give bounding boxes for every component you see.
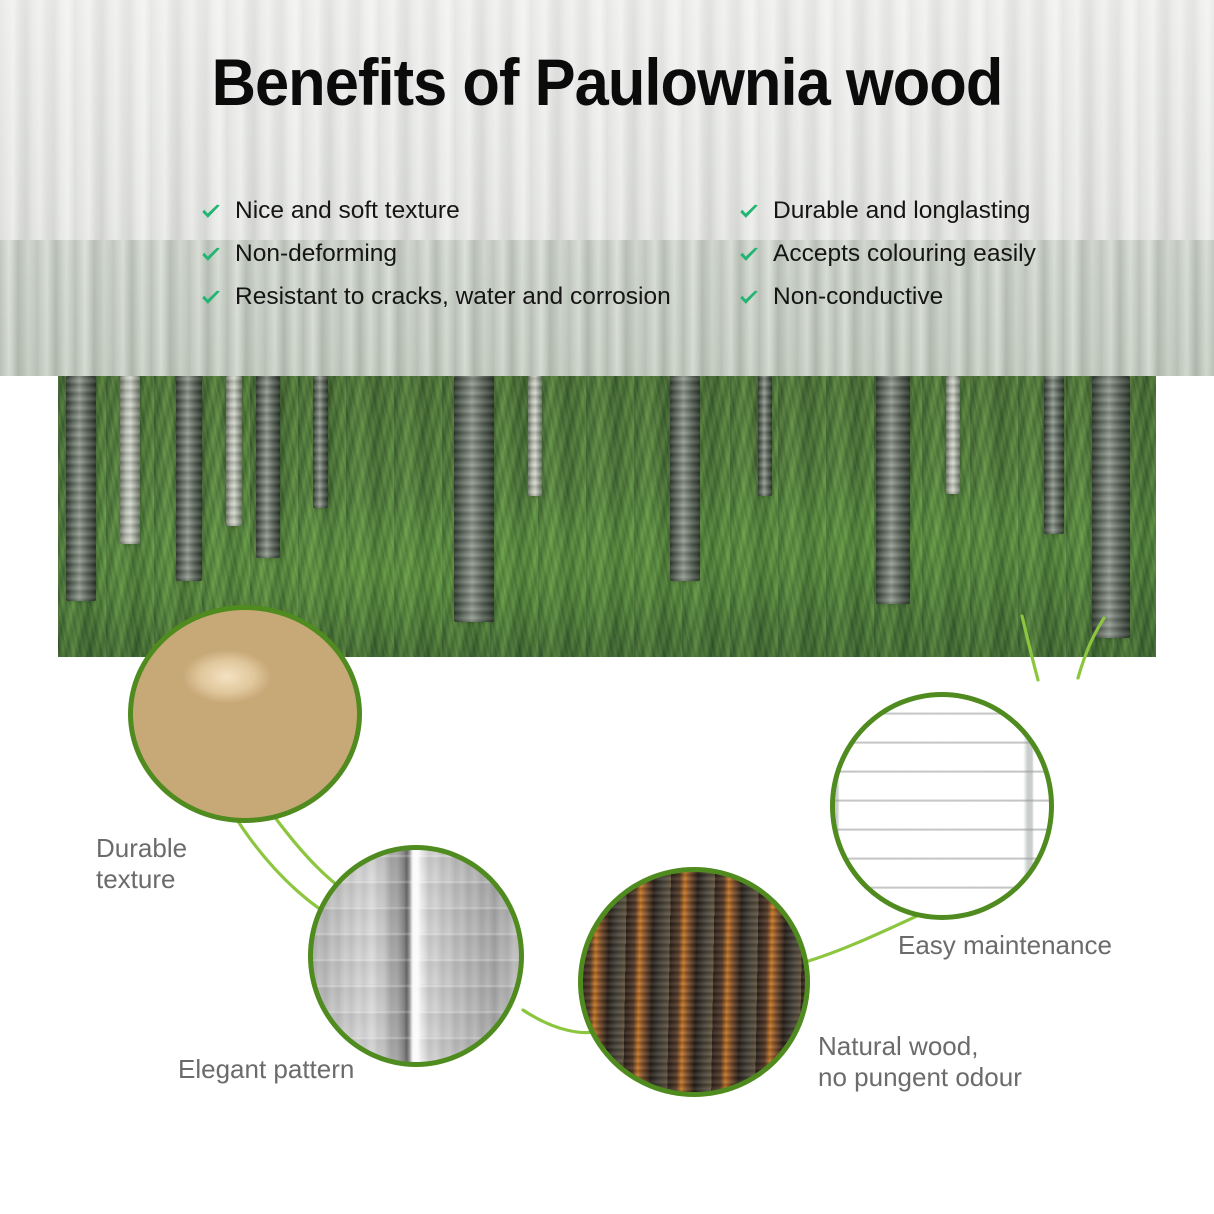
benefit-item: Nice and soft texture bbox=[200, 196, 670, 228]
caption-durable-texture: Durable texture bbox=[96, 833, 187, 895]
benefit-item: Non-deforming bbox=[200, 239, 670, 271]
bubble-natural-wood[interactable] bbox=[578, 867, 810, 1097]
check-icon bbox=[200, 287, 222, 309]
benefit-item: Durable and longlasting bbox=[738, 196, 1058, 228]
bubble-durable-texture[interactable] bbox=[128, 605, 362, 823]
tree-trunk bbox=[758, 376, 772, 496]
benefit-label: Durable and longlasting bbox=[773, 196, 1030, 226]
tree-trunk bbox=[1044, 376, 1064, 534]
tree-trunk bbox=[66, 376, 96, 601]
tree-trunk bbox=[313, 376, 328, 508]
check-icon bbox=[738, 201, 760, 223]
caption-natural-wood: Natural wood, no pungent odour bbox=[818, 1031, 1022, 1093]
tree-trunk bbox=[226, 376, 242, 526]
tree-trunk bbox=[670, 376, 700, 581]
caption-easy-maintenance: Easy maintenance bbox=[898, 930, 1112, 961]
benefit-item: Non-conductive bbox=[738, 282, 1058, 314]
benefit-label: Nice and soft texture bbox=[235, 196, 460, 226]
tree-trunk bbox=[528, 376, 542, 496]
caption-elegant-pattern: Elegant pattern bbox=[178, 1054, 354, 1085]
tree-trunk bbox=[120, 376, 140, 544]
infographic-page: Benefits of Paulownia wood Nice and soft… bbox=[0, 0, 1214, 1214]
benefit-item: Resistant to cracks, water and corrosion bbox=[200, 282, 670, 314]
benefits-right-column: Durable and longlasting Accepts colourin… bbox=[738, 196, 1058, 314]
benefits-left-column: Nice and soft texture Non-deforming Resi… bbox=[200, 196, 670, 314]
tree-trunk bbox=[1092, 376, 1130, 638]
benefit-label: Resistant to cracks, water and corrosion bbox=[235, 282, 671, 312]
bubble-easy-maintenance[interactable] bbox=[830, 692, 1054, 920]
tree-trunk bbox=[256, 376, 280, 558]
tree-trunk bbox=[946, 376, 960, 494]
tree-trunk bbox=[454, 376, 494, 622]
benefit-item: Accepts colouring easily bbox=[738, 239, 1058, 271]
benefit-label: Non-conductive bbox=[773, 282, 943, 312]
benefit-label: Accepts colouring easily bbox=[773, 239, 1036, 269]
bubble-elegant-pattern[interactable] bbox=[308, 845, 524, 1067]
tree-trunk bbox=[876, 376, 910, 604]
check-icon bbox=[200, 201, 222, 223]
benefit-label: Non-deforming bbox=[235, 239, 397, 269]
check-icon bbox=[200, 244, 222, 266]
check-icon bbox=[738, 287, 760, 309]
benefits-list: Nice and soft texture Non-deforming Resi… bbox=[200, 196, 1060, 314]
check-icon bbox=[738, 244, 760, 266]
tree-trunk bbox=[176, 376, 202, 581]
page-title: Benefits of Paulownia wood bbox=[42, 44, 1171, 120]
